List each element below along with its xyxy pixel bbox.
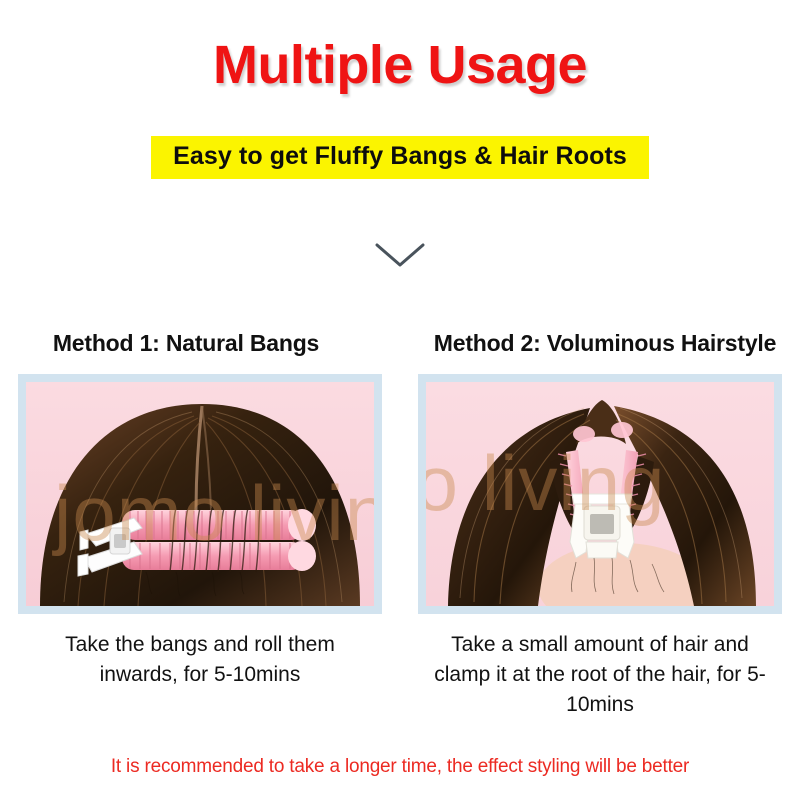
product-infographic: Multiple Usage Easy to get Fluffy Bangs … [0,0,800,800]
method-1-caption: Take the bangs and roll them inwards, fo… [25,630,375,690]
method-2-photo-frame: jomo living [418,374,782,614]
method-2-heading: Method 2: Voluminous Hairstyle [424,330,776,357]
divider [0,240,800,275]
method-2-caption: Take a small amount of hair and clamp it… [425,630,775,719]
page-title: Multiple Usage [0,36,800,95]
method-1-photo-frame: jomo living [18,374,382,614]
method-1-block: Method 1: Natural Bangs [0,330,400,719]
chevron-down-icon [373,240,427,275]
method-1-photo: jomo living [26,382,374,606]
methods-row: Method 1: Natural Bangs [0,330,800,719]
highlight-banner: Easy to get Fluffy Bangs & Hair Roots [151,136,649,179]
method-2-photo: jomo living [426,382,774,606]
method-2-block: Method 2: Voluminous Hairstyle [400,330,800,719]
method-1-heading: Method 1: Natural Bangs [53,330,347,357]
banner-container: Easy to get Fluffy Bangs & Hair Roots [0,136,800,179]
footer-note: It is recommended to take a longer time,… [0,756,800,778]
